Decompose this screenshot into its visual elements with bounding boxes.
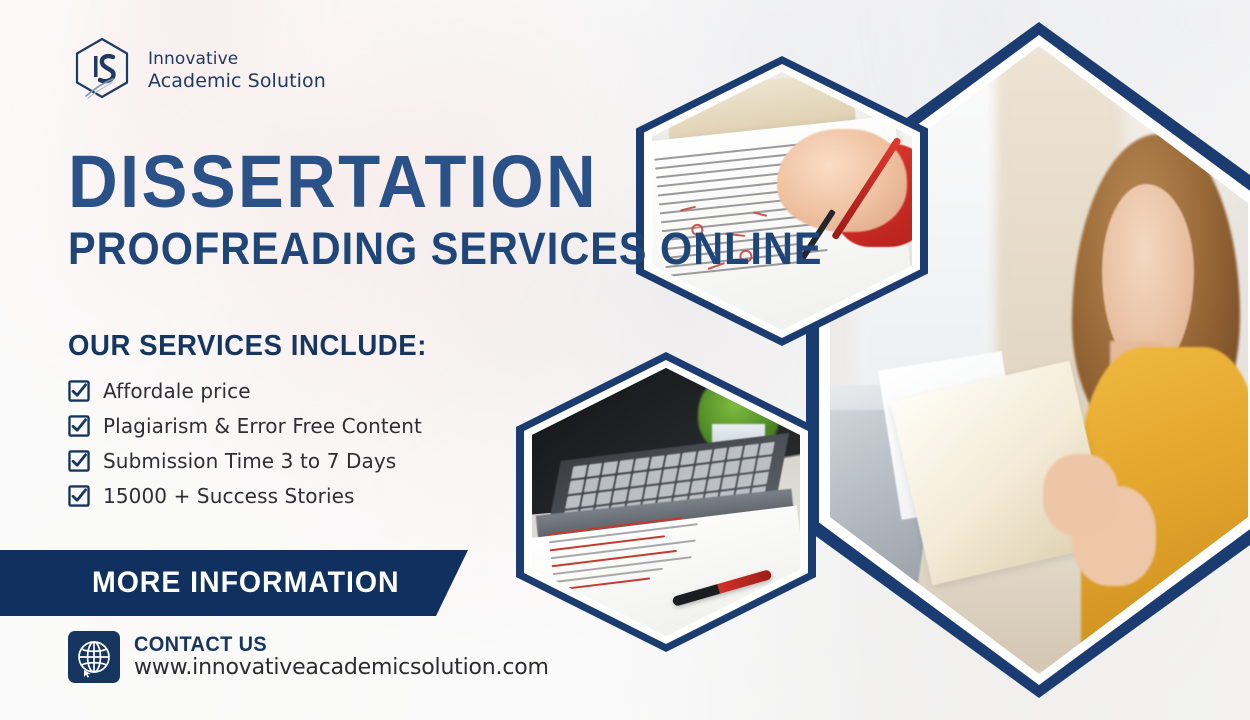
checkbox-checked-icon: [68, 380, 90, 402]
checkbox-checked-icon: [68, 450, 90, 472]
headline-block: DISSERTATION PROOFREADING SERVICES ONLIN…: [68, 146, 888, 272]
globe-icon: [68, 631, 120, 683]
list-item: 15000 + Success Stories: [68, 484, 446, 508]
services-title: OUR SERVICES INCLUDE:: [68, 330, 427, 363]
contact-block[interactable]: CONTACT US www.innovativeacademicsolutio…: [68, 631, 549, 683]
hexagon-is-monogram-icon: [70, 36, 134, 106]
brand-logo[interactable]: Innovative Academic Solution: [70, 36, 326, 106]
promotional-banner: Innovative Academic Solution DISSERTATIO…: [0, 0, 1250, 720]
list-item-label: Submission Time 3 to 7 Days: [103, 449, 396, 473]
services-list: OUR SERVICES INCLUDE: Affordale price Pl…: [68, 330, 446, 519]
photo-arm: [1043, 454, 1118, 536]
list-item: Submission Time 3 to 7 Days: [68, 449, 446, 473]
laptop-marked-document-photo: [516, 352, 816, 652]
brand-name-line1: Innovative: [148, 49, 326, 70]
list-item-label: Plagiarism & Error Free Content: [103, 414, 422, 438]
contact-title: CONTACT US: [134, 633, 528, 657]
list-item: Affordale price: [68, 379, 446, 403]
more-information-button[interactable]: MORE INFORMATION: [0, 550, 468, 616]
list-item-label: 15000 + Success Stories: [103, 484, 355, 508]
list-item-label: Affordale price: [103, 379, 251, 403]
contact-text: CONTACT US www.innovativeacademicsolutio…: [134, 633, 549, 681]
more-information-button-label: MORE INFORMATION: [92, 566, 400, 600]
contact-url[interactable]: www.innovativeacademicsolution.com: [134, 656, 549, 681]
brand-name-line2: Academic Solution: [148, 70, 326, 93]
checkbox-checked-icon: [68, 415, 90, 437]
headline-main: DISSERTATION: [68, 146, 831, 219]
checkbox-checked-icon: [68, 485, 90, 507]
headline-sub: PROOFREADING SERVICES ONLINE: [68, 225, 822, 272]
list-item: Plagiarism & Error Free Content: [68, 414, 446, 438]
brand-name: Innovative Academic Solution: [148, 49, 326, 93]
